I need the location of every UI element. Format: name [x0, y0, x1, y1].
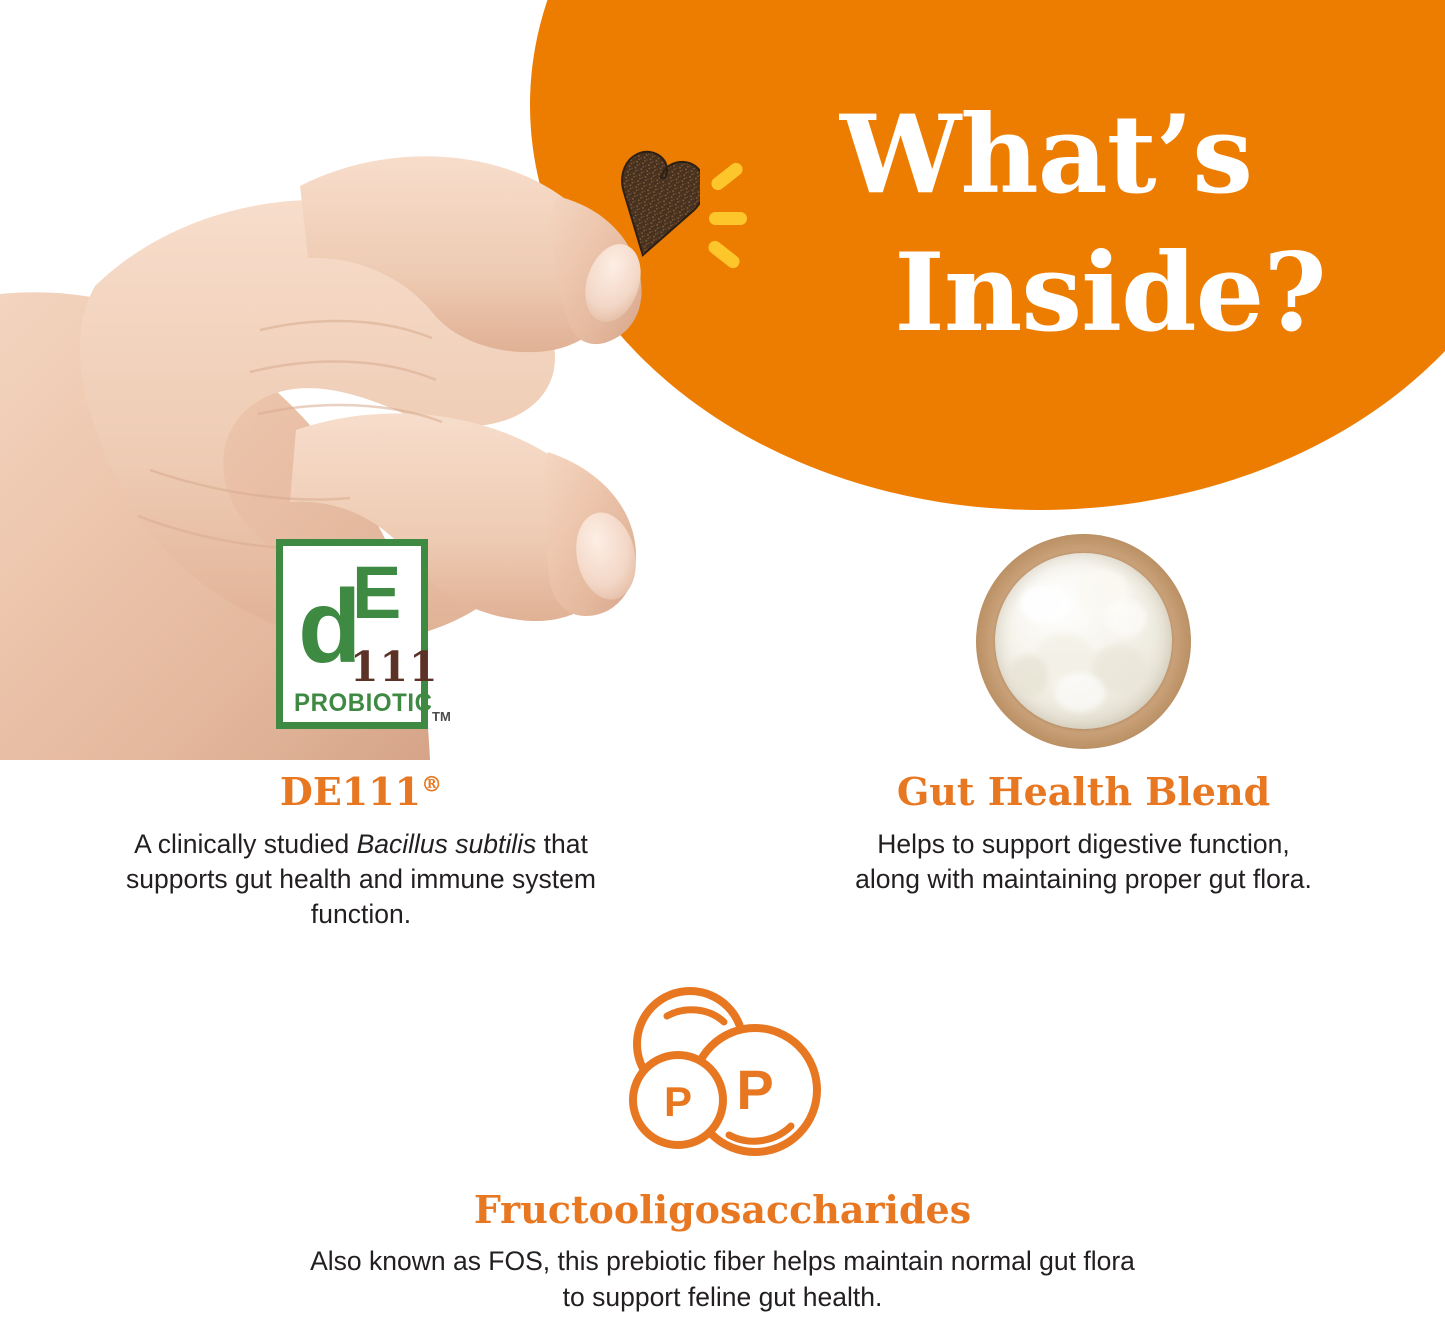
features-row-bottom: P P Fructooligosaccharides Also known as… — [0, 979, 1445, 1315]
prebiotic-circles-icon: P P — [615, 982, 830, 1172]
bowl-of-powder-image — [976, 534, 1191, 749]
feature-gut-health-blend-title: Gut Health Blend — [897, 771, 1270, 813]
feature-fructooligosaccharides-title: Fructooligosaccharides — [474, 1189, 971, 1231]
body-text-before: A clinically studied — [134, 829, 356, 859]
de111-probiotic-word: PROBIOTIC — [294, 689, 433, 718]
feature-fructooligosaccharides-body: Also known as FOS, this prebiotic fiber … — [308, 1244, 1138, 1314]
fos-icon-slot: P P — [615, 979, 830, 1175]
trademark-symbol: TM — [432, 709, 451, 724]
hero-title: What’s Inside? — [840, 86, 1380, 362]
fos-letter-p-small: P — [664, 1078, 692, 1125]
feature-de111-title: DE111® — [280, 771, 442, 813]
feature-gut-health-blend: Gut Health Blend Helps to support digest… — [722, 525, 1445, 933]
feature-de111-body: A clinically studied Bacillus subtilis t… — [101, 827, 621, 933]
species-name: Bacillus subtilis — [357, 829, 537, 859]
de111-probiotic-logo-icon: d E 111 PROBIOTIC TM — [276, 539, 446, 744]
bowl-icon-slot — [976, 525, 1191, 757]
de111-icon-slot: d E 111 PROBIOTIC TM — [276, 525, 446, 757]
hero-banner: What’s Inside? — [0, 0, 1445, 520]
feature-gut-health-blend-body: Helps to support digestive function, alo… — [849, 827, 1319, 897]
hero-title-line-1: What’s — [840, 86, 1380, 224]
feature-fructooligosaccharides: P P Fructooligosaccharides Also known as… — [0, 979, 1445, 1315]
feature-de111-title-text: DE111 — [280, 769, 421, 814]
feature-de111: d E 111 PROBIOTIC TM DE111® A clinically… — [0, 525, 722, 933]
hero-title-line-2: Inside? — [840, 224, 1380, 362]
registered-symbol: ® — [421, 771, 442, 796]
de111-letter-e: E — [352, 563, 401, 624]
features-row-top: d E 111 PROBIOTIC TM DE111® A clinically… — [0, 525, 1445, 933]
de111-number: 111 — [350, 643, 439, 691]
sparkle-dash-2-icon — [709, 212, 747, 225]
powder-surface — [995, 553, 1171, 729]
features-section: d E 111 PROBIOTIC TM DE111® A clinically… — [0, 525, 1445, 1315]
fos-letter-p-large: P — [736, 1058, 773, 1121]
